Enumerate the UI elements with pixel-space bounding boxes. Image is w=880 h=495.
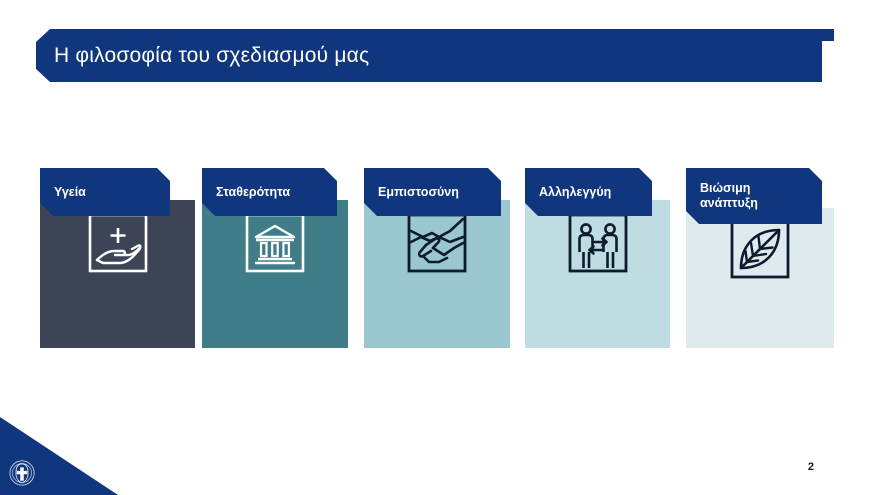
card-icon-container — [364, 212, 510, 274]
people-exchange-icon — [567, 212, 629, 274]
card-header: Βιώσιμη ανάπτυξη — [686, 168, 822, 224]
card-icon-container — [686, 218, 834, 280]
card-title-line-1: Βιώσιμη — [700, 181, 750, 195]
page-number: 2 — [808, 461, 814, 473]
hand-plus-icon — [87, 212, 149, 274]
leaf-icon — [729, 218, 791, 280]
card-icon-container — [525, 212, 670, 274]
handshake-icon — [406, 212, 468, 274]
greek-republic-emblem — [9, 460, 35, 486]
card-header: Αλληλεγγύη — [525, 168, 652, 216]
card-header: Εμπιστοσύνη — [364, 168, 501, 216]
card-header: Σταθερότητα — [202, 168, 337, 216]
card-header: Υγεία — [40, 168, 170, 216]
card-title: Αλληλεγγύη — [539, 185, 611, 200]
page-title: Η φιλοσοφία του σχεδιασμού μας — [54, 44, 369, 68]
card-title-line-2: ανάπτυξη — [700, 196, 758, 210]
card-icon-container — [202, 212, 348, 274]
card-title: Σταθερότητα — [216, 185, 290, 200]
card-title: Υγεία — [54, 185, 86, 200]
slide-title-banner: Η φιλοσοφία του σχεδιασμού μας — [36, 29, 834, 82]
card-title: Βιώσιμη ανάπτυξη — [700, 181, 758, 211]
bank-building-icon — [244, 212, 306, 274]
card-title: Εμπιστοσύνη — [378, 185, 459, 200]
card-icon-container — [40, 212, 195, 274]
